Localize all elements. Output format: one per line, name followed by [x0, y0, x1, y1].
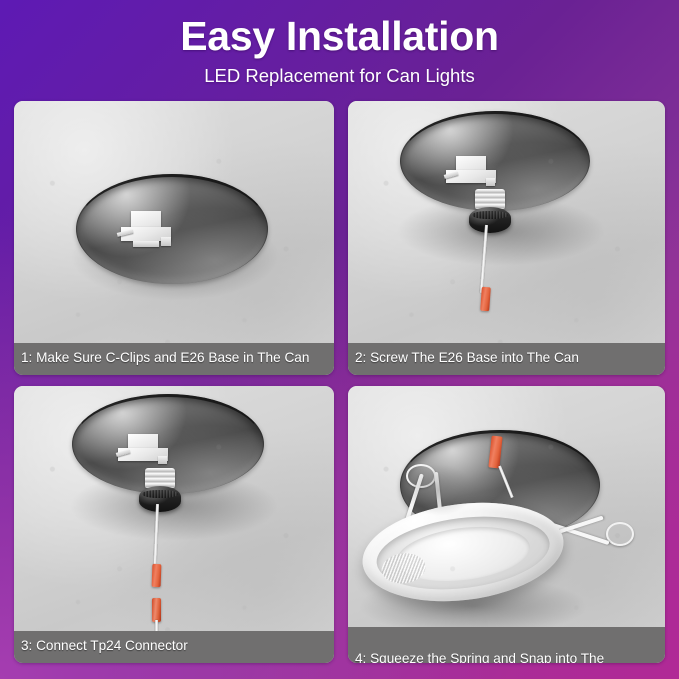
e26-threads [145, 468, 175, 488]
e26-base-3 [145, 468, 175, 510]
c-clip-foot [133, 241, 159, 247]
step-3-photo [14, 386, 334, 663]
tp24-connector-lower-3 [152, 598, 161, 622]
step-4-caption-line1: 4: Squeeze the Spring and Snap into The [355, 651, 604, 663]
step-4-photo [348, 386, 665, 663]
step-2-photo [348, 101, 665, 375]
step-panel-1: 1: Make Sure C-Clips and E26 Base in The… [14, 101, 334, 375]
e26-base-2 [475, 189, 505, 231]
step-panel-4: 4: Squeeze the Spring and Snap into The … [348, 386, 665, 663]
tp24-connector-2 [480, 287, 491, 312]
c-clip-arm-right [161, 237, 171, 246]
step-1-photo [14, 101, 334, 375]
e26-socket-contact [142, 490, 177, 499]
e26-socket [139, 486, 181, 512]
step-panel-2: 2: Screw The E26 Base into The Can [348, 101, 665, 375]
c-clip-arm-right [486, 178, 495, 186]
step-3-caption: 3: Connect Tp24 Connector [14, 631, 334, 663]
header: Easy Installation LED Replacement for Ca… [0, 0, 679, 101]
page-subtitle: LED Replacement for Can Lights [0, 60, 679, 87]
step-4-caption: 4: Squeeze the Spring and Snap into The … [348, 627, 665, 663]
e26-threads [475, 189, 505, 209]
tp24-connector-upper-3 [152, 564, 162, 587]
c-clip-bracket-1 [117, 211, 181, 256]
spring-clip-loop-right [606, 522, 634, 546]
e26-socket [469, 207, 511, 233]
fixture-wire-upper-3 [153, 504, 158, 568]
page-title: Easy Installation [0, 0, 679, 60]
e26-socket-contact [472, 211, 507, 220]
step-1-caption: 1: Make Sure C-Clips and E26 Base in The… [14, 343, 334, 375]
c-clip-arm-right [158, 456, 167, 464]
step-2-caption: 2: Screw The E26 Base into The Can [348, 343, 665, 375]
fixture-wire-2 [480, 225, 488, 293]
installation-infographic: Easy Installation LED Replacement for Ca… [0, 0, 679, 679]
step-panel-3: 3: Connect Tp24 Connector [14, 386, 334, 663]
